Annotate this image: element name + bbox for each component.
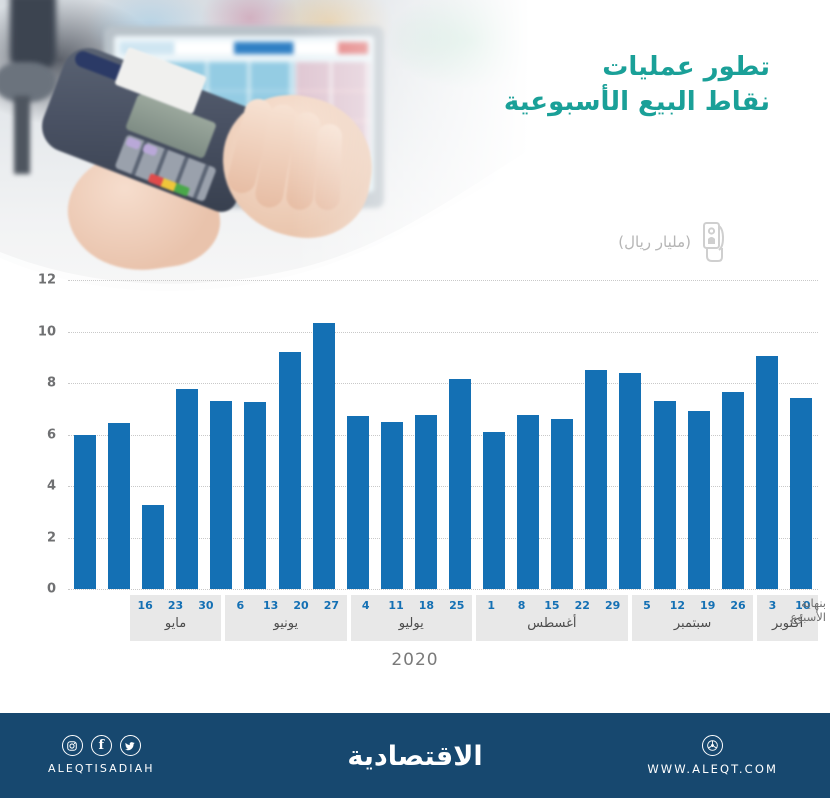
day-row: 29221581: [476, 599, 628, 612]
plot-area: [68, 280, 818, 589]
day-row: 2720136: [225, 599, 346, 612]
day-label: 11: [381, 599, 411, 612]
bar-slot[interactable]: [68, 280, 102, 589]
bar[interactable]: [551, 419, 573, 589]
day-row: 2619125: [632, 599, 753, 612]
day-label: 12: [662, 599, 692, 612]
bar-slot[interactable]: [784, 280, 818, 589]
bar[interactable]: [279, 352, 301, 589]
bar-slot[interactable]: [648, 280, 682, 589]
month-name: يونيو: [225, 616, 346, 631]
day-label: 23: [160, 599, 190, 612]
unit-label-group: (مليار ريال): [618, 222, 725, 262]
bar-slot[interactable]: [273, 280, 307, 589]
day-label: 30: [191, 599, 221, 612]
bar-slot[interactable]: [613, 280, 647, 589]
y-axis-tick: 4: [47, 479, 56, 494]
day-label: 6: [225, 599, 255, 612]
bar[interactable]: [654, 401, 676, 589]
bar[interactable]: [790, 398, 812, 589]
bar-slot[interactable]: [477, 280, 511, 589]
bar[interactable]: [313, 323, 335, 590]
bar-slot[interactable]: [545, 280, 579, 589]
day-label: 5: [632, 599, 662, 612]
y-axis-tick: 0: [47, 582, 56, 597]
photo-fade-overlay: [0, 0, 530, 300]
x-axis-month-groups: 103أكتوبر2619125سبتمبر29221581أغسطس25181…: [68, 595, 818, 641]
day-label: 25: [442, 599, 472, 612]
page-title: تطور عمليات نقاط البيع الأسبوعية: [504, 50, 770, 120]
footer-website-block[interactable]: WWW.ALEQT.COM: [647, 735, 778, 776]
infographic-page: تطور عمليات نقاط البيع الأسبوعية (مليار …: [0, 0, 830, 798]
bar[interactable]: [347, 416, 369, 589]
y-axis: 024681012: [0, 280, 68, 590]
y-axis-tick: 2: [47, 530, 56, 545]
bar-slot[interactable]: [307, 280, 341, 589]
month-group: 2619125سبتمبر: [632, 595, 753, 641]
month-group: 302316مايو: [130, 595, 221, 641]
month-name: سبتمبر: [632, 616, 753, 631]
week-end-line-2: الأسبوع: [770, 610, 826, 624]
day-label: 19: [693, 599, 723, 612]
y-axis-tick: 6: [47, 427, 56, 442]
month-group: 29221581أغسطس: [476, 595, 628, 641]
bar-slot[interactable]: [102, 280, 136, 589]
day-label: 29: [597, 599, 627, 612]
month-name: يوليو: [351, 616, 472, 631]
bar[interactable]: [415, 415, 437, 589]
title-line-1: تطور عمليات: [504, 50, 770, 85]
bar-slot[interactable]: [204, 280, 238, 589]
bar-series: [68, 280, 818, 589]
day-row: 302316: [130, 599, 221, 612]
day-label: 8: [506, 599, 536, 612]
bar-slot[interactable]: [750, 280, 784, 589]
bar-slot[interactable]: [716, 280, 750, 589]
bar[interactable]: [483, 432, 505, 589]
globe-icon: [702, 735, 723, 756]
bar[interactable]: [585, 370, 607, 589]
bar-slot[interactable]: [443, 280, 477, 589]
month-name: مايو: [130, 616, 221, 631]
month-group: 2720136يونيو: [225, 595, 346, 641]
y-axis-tick: 8: [47, 376, 56, 391]
bar[interactable]: [517, 415, 539, 589]
week-end-spacer: [68, 595, 126, 641]
bar-slot[interactable]: [579, 280, 613, 589]
day-label: 27: [316, 599, 346, 612]
y-axis-tick: 10: [38, 324, 56, 339]
bar[interactable]: [381, 422, 403, 589]
month-name: أغسطس: [476, 616, 628, 631]
day-label: 16: [130, 599, 160, 612]
bar-slot[interactable]: [682, 280, 716, 589]
month-group: 2518114يوليو: [351, 595, 472, 641]
bar-slot[interactable]: [238, 280, 272, 589]
day-row: 2518114: [351, 599, 472, 612]
year-label: 2020: [0, 650, 830, 670]
bar-slot[interactable]: [375, 280, 409, 589]
bar[interactable]: [722, 392, 744, 589]
banknote-icon: [699, 222, 725, 262]
day-label: 13: [255, 599, 285, 612]
bar[interactable]: [688, 411, 710, 589]
day-label: 4: [351, 599, 381, 612]
bar[interactable]: [176, 389, 198, 589]
bar-slot[interactable]: [341, 280, 375, 589]
day-label: 18: [411, 599, 441, 612]
bar-slot[interactable]: [409, 280, 443, 589]
day-label: 1: [476, 599, 506, 612]
bar-slot[interactable]: [170, 280, 204, 589]
title-line-2: نقاط البيع الأسبوعية: [504, 85, 770, 120]
x-axis-baseline: [68, 589, 818, 590]
week-end-line-1: بنهاية: [770, 596, 826, 610]
bar[interactable]: [449, 379, 471, 589]
bar[interactable]: [142, 505, 164, 589]
y-axis-tick: 12: [38, 273, 56, 288]
bar-chart: 024681012: [0, 280, 830, 610]
week-end-label: بنهاية الأسبوع: [770, 596, 826, 625]
unit-label: (مليار ريال): [618, 233, 691, 251]
bar[interactable]: [619, 373, 641, 589]
pos-terminal-photo: [0, 0, 530, 300]
day-label: 15: [537, 599, 567, 612]
bar[interactable]: [108, 423, 130, 589]
website-url[interactable]: WWW.ALEQT.COM: [647, 762, 778, 776]
day-label: 26: [723, 599, 753, 612]
bar-slot[interactable]: [511, 280, 545, 589]
bar[interactable]: [74, 435, 96, 590]
day-label: 22: [567, 599, 597, 612]
bar[interactable]: [244, 402, 266, 589]
bar[interactable]: [756, 356, 778, 589]
day-label: 20: [286, 599, 316, 612]
bar-slot[interactable]: [136, 280, 170, 589]
footer-bar: f ALEQTISADIAH الاقتصادية WWW.ALEQT.COM: [0, 713, 830, 798]
bar[interactable]: [210, 401, 232, 589]
